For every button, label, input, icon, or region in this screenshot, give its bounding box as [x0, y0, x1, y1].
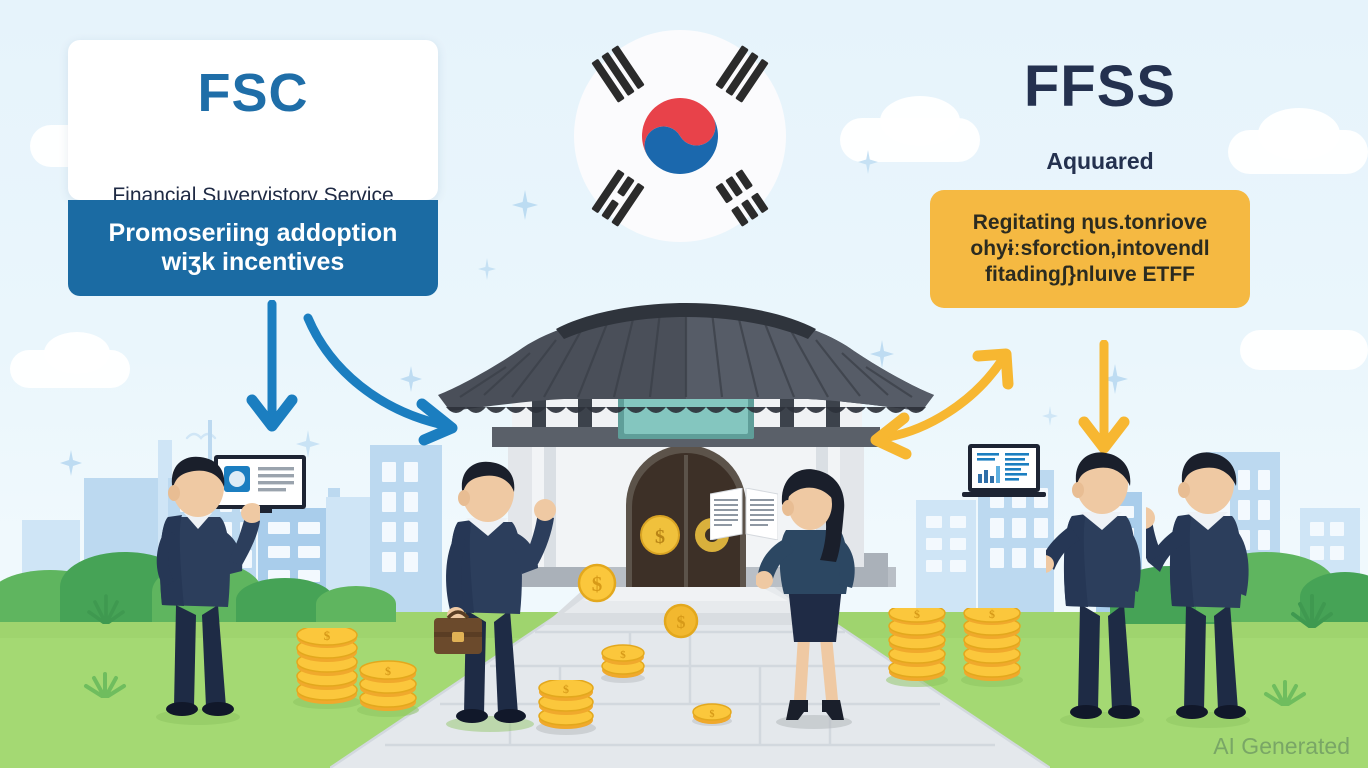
korean-flag-emblem — [572, 28, 788, 249]
grass-tuft-icon — [82, 668, 128, 698]
cloud-icon — [44, 332, 110, 374]
coin-stack: $ — [356, 658, 420, 718]
arrow-down-yellow — [1078, 340, 1130, 470]
coin-stack: $ — [292, 628, 362, 710]
svg-text:$: $ — [620, 649, 626, 661]
sparkle-icon — [60, 450, 82, 476]
fss-subtitle: Aquuared — [940, 148, 1260, 175]
person-right-observer — [1146, 452, 1278, 728]
fss-banner-text: Regitating ɳus.tonriove ohyɨːsforction,i… — [940, 210, 1240, 289]
person-center-woman — [756, 468, 872, 730]
coin-stack: $ — [600, 640, 646, 684]
svg-text:$: $ — [914, 608, 920, 621]
fsc-banner[interactable]: Promoseriing addoption wiʒk incentives — [68, 200, 438, 296]
coin-stack: $ — [960, 608, 1024, 688]
coin-single: $ — [577, 563, 617, 603]
person-right-analyst — [1046, 452, 1162, 728]
sparkle-icon — [1042, 406, 1058, 426]
infographic-canvas: $ — [0, 0, 1368, 768]
coin-stack: $ — [885, 608, 949, 688]
svg-text:$: $ — [655, 526, 665, 548]
sparkle-icon — [512, 190, 538, 220]
coin-single: $ — [691, 702, 733, 728]
svg-text:$: $ — [592, 572, 603, 596]
person-left-analyst — [150, 455, 260, 725]
svg-text:$: $ — [710, 709, 715, 720]
arrow-curve-blue — [300, 300, 480, 450]
fsc-banner-text: Promoseriing addoption wiʒk incentives — [88, 219, 418, 278]
coin-single: $ — [663, 603, 699, 639]
fss-banner[interactable]: Regitating ɳus.tonriove ohyɨːsforction,i… — [930, 190, 1250, 308]
grass-tuft-icon — [1290, 590, 1334, 628]
svg-text:$: $ — [563, 682, 569, 696]
grass-tuft-icon — [86, 590, 126, 624]
laptop-right[interactable] — [962, 444, 1046, 506]
svg-text:$: $ — [385, 664, 391, 678]
ai-generated-watermark: AI Generated — [1213, 733, 1350, 760]
arrow-down-blue — [246, 300, 298, 450]
sparkle-icon — [478, 258, 496, 280]
svg-text:$: $ — [989, 608, 995, 621]
fss-title: FFSS — [940, 58, 1260, 116]
svg-text:$: $ — [677, 612, 686, 632]
fsc-title: FSC — [68, 66, 438, 120]
coin-stack: $ — [535, 680, 597, 736]
fsc-card[interactable]: FSC Financial Suvervistory Service — [68, 40, 438, 200]
sparkle-icon — [858, 150, 878, 174]
cloud-icon — [1258, 108, 1340, 160]
cloud-icon — [1240, 330, 1368, 370]
svg-text:$: $ — [324, 628, 331, 643]
